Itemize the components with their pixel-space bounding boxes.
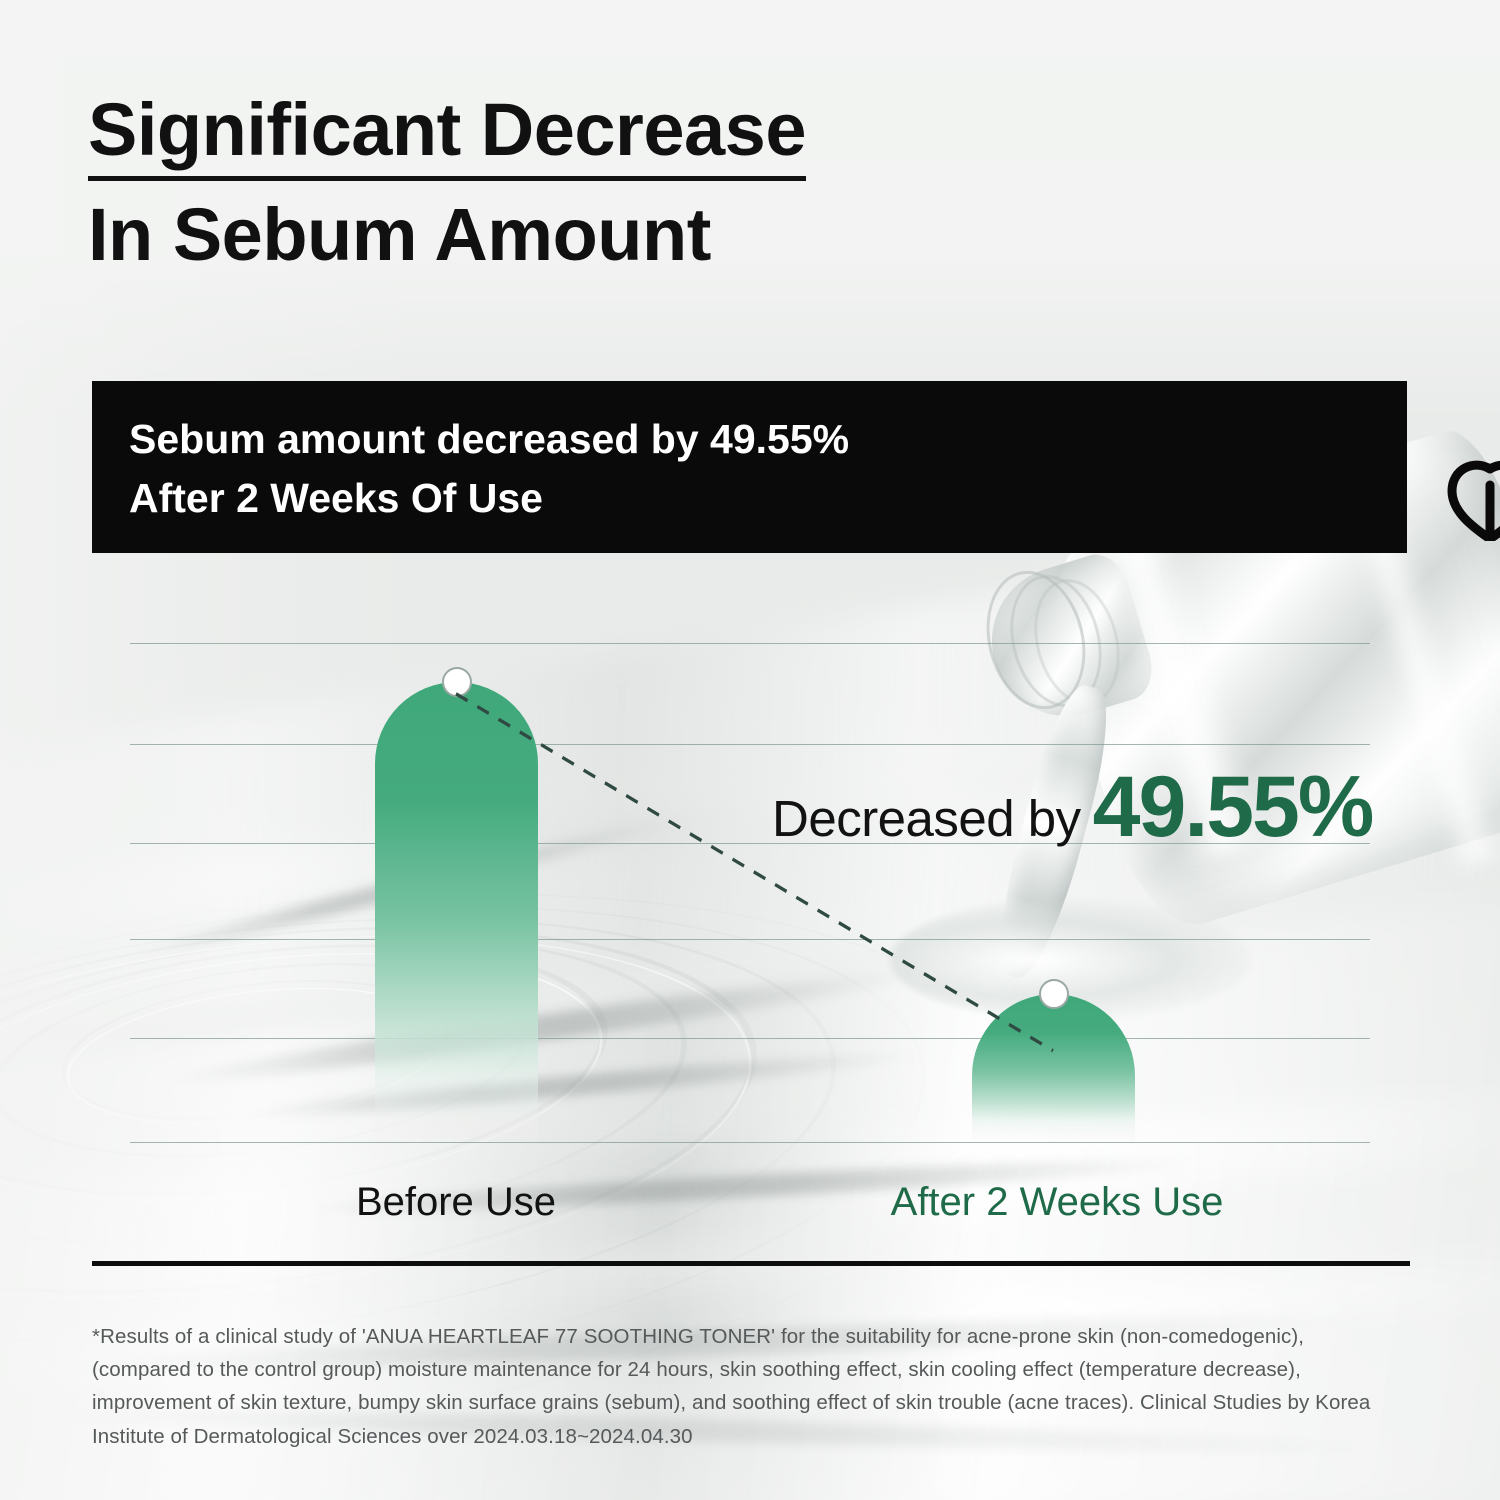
page-title-line2: In Sebum Amount bbox=[88, 193, 806, 277]
claim-banner-line2: After 2 Weeks Of Use bbox=[129, 469, 1407, 528]
trend-connector-line bbox=[130, 600, 1370, 1220]
claim-banner: Sebum amount decreased by 49.55% After 2… bbox=[92, 381, 1407, 553]
decrease-callout-value: 49.55% bbox=[1093, 764, 1373, 850]
footer-divider bbox=[92, 1261, 1410, 1266]
sebum-bar-chart: Before Use After 2 Weeks Use bbox=[130, 600, 1370, 1220]
page-title-line1: Significant Decrease bbox=[88, 88, 806, 181]
decrease-callout: Decreased by 49.55% bbox=[772, 764, 1372, 850]
claim-banner-line1-prefix: Sebum amount decreased by bbox=[129, 416, 710, 462]
category-label-before-use: Before Use bbox=[356, 1180, 556, 1225]
clinical-study-footnote: *Results of a clinical study of 'ANUA HE… bbox=[92, 1320, 1392, 1453]
page-title: Significant Decrease In Sebum Amount bbox=[88, 88, 806, 276]
claim-banner-percent: 49.55% bbox=[710, 416, 849, 462]
claim-banner-line1: Sebum amount decreased by 49.55% bbox=[129, 410, 1407, 469]
decrease-callout-lead: Decreased by bbox=[772, 789, 1081, 848]
heartleaf-logo bbox=[1442, 455, 1500, 541]
category-label-after-2-weeks-use: After 2 Weeks Use bbox=[891, 1180, 1224, 1225]
chart-plot-area bbox=[130, 600, 1370, 1142]
page-content: Significant Decrease In Sebum Amount Seb… bbox=[0, 0, 1500, 1500]
